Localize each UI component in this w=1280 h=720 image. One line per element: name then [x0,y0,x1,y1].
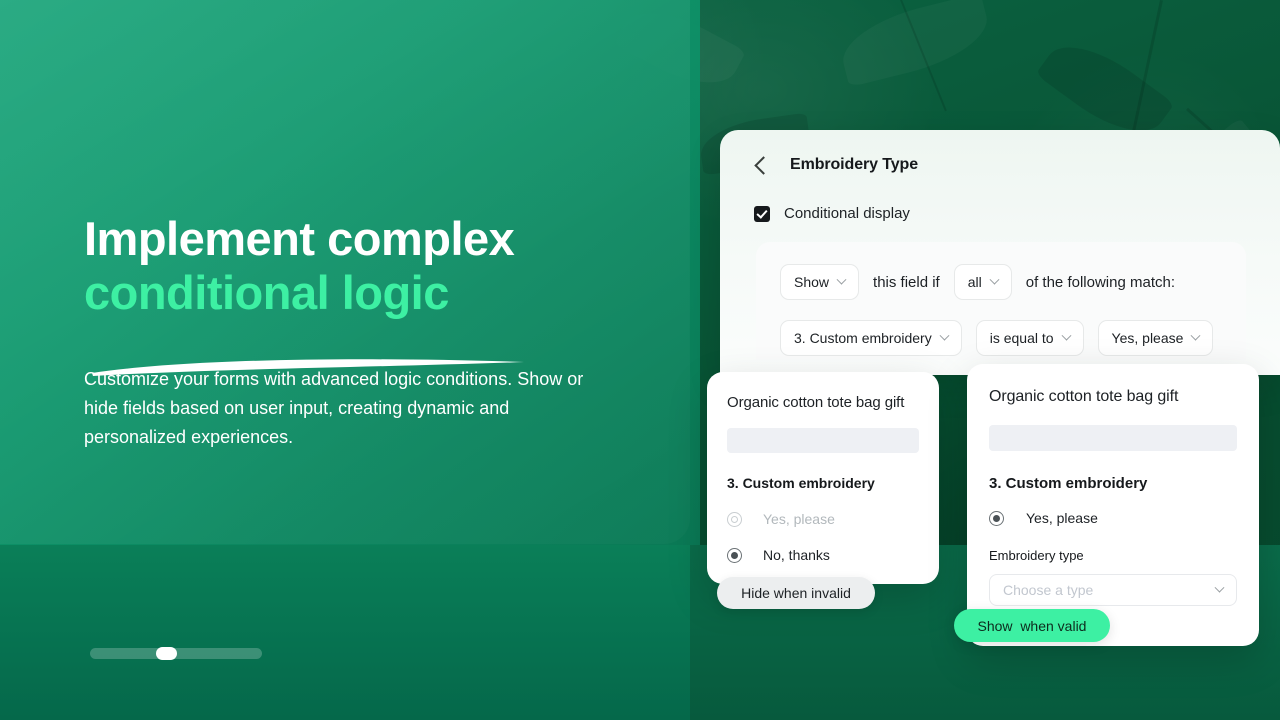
form-preview-card-invalid: Organic cotton tote bag gift 3. Custom e… [707,372,939,584]
conditional-display-toggle-row[interactable]: Conditional display [754,205,1246,222]
badge-show-when-valid[interactable]: Show when valid [954,609,1110,642]
badge-hide-when-invalid[interactable]: Hide when invalid [717,577,875,609]
slide-container: Implement complex conditional logic Cust… [0,0,1280,720]
slider-thumb[interactable] [156,647,177,660]
carousel-progress-slider[interactable] [90,648,262,659]
radio-option-yes[interactable]: Yes, please [989,510,1237,526]
question-label: 3. Custom embroidery [727,475,919,491]
radio-icon-selected [727,548,742,563]
value-select-value: Yes, please [1112,330,1184,346]
condition-row-primary: Show this field if all of the following … [780,264,1222,300]
chevron-down-icon [1191,330,1201,340]
match-select-value: all [968,274,982,290]
following-match-text: of the following match: [1026,274,1175,291]
action-select[interactable]: Show [780,264,859,300]
radio-option-label: Yes, please [763,511,835,527]
question-label: 3. Custom embroidery [989,475,1237,492]
chevron-down-icon [837,274,847,284]
chevron-left-icon[interactable] [754,156,772,174]
operator-select[interactable]: is equal to [976,320,1084,356]
hero-title-line1: Implement complex [84,212,514,265]
conditional-display-label: Conditional display [784,205,910,222]
value-select[interactable]: Yes, please [1098,320,1214,356]
text-input-placeholder[interactable] [989,425,1237,451]
radio-option-label: No, thanks [763,547,830,563]
hero-body: Customize your forms with advanced logic… [84,365,614,452]
chevron-down-icon [1215,582,1225,592]
action-select-value: Show [794,274,829,290]
condition-row-rule: 3. Custom embroidery is equal to Yes, pl… [780,320,1222,356]
panel-header: Embroidery Type [754,156,1246,174]
underline-swoosh-icon [88,352,528,378]
conditions-container: Show this field if all of the following … [756,242,1246,360]
conditional-display-checkbox[interactable] [754,206,770,222]
chevron-down-icon [1061,330,1071,340]
form-preview-card-valid: Organic cotton tote bag gift 3. Custom e… [967,364,1259,646]
embroidery-type-select[interactable]: Choose a type [989,574,1237,606]
this-field-if-text: this field if [873,274,940,291]
form-title: Organic cotton tote bag gift [989,388,1237,406]
radio-icon-selected [989,511,1004,526]
panel-title: Embroidery Type [790,156,918,174]
text-input-placeholder[interactable] [727,428,919,453]
hero-title-line2: conditional logic [84,266,684,320]
conditional-display-panel: Embroidery Type Conditional display Show… [720,130,1280,375]
radio-option-no[interactable]: No, thanks [727,547,919,563]
embroidery-type-label: Embroidery type [989,548,1237,563]
hero-section: Implement complex conditional logic Cust… [84,212,684,452]
hero-title: Implement complex conditional logic [84,212,684,319]
chevron-down-icon [989,274,999,284]
form-title: Organic cotton tote bag gift [727,394,919,411]
leaf-shape [835,0,995,87]
operator-select-value: is equal to [990,330,1054,346]
radio-option-label: Yes, please [1026,510,1098,526]
field-select[interactable]: 3. Custom embroidery [780,320,962,356]
match-select[interactable]: all [954,264,1012,300]
radio-icon-unselected [727,512,742,527]
embroidery-type-placeholder: Choose a type [1003,582,1093,598]
radio-option-yes[interactable]: Yes, please [727,511,919,527]
field-select-value: 3. Custom embroidery [794,330,932,346]
chevron-down-icon [939,330,949,340]
